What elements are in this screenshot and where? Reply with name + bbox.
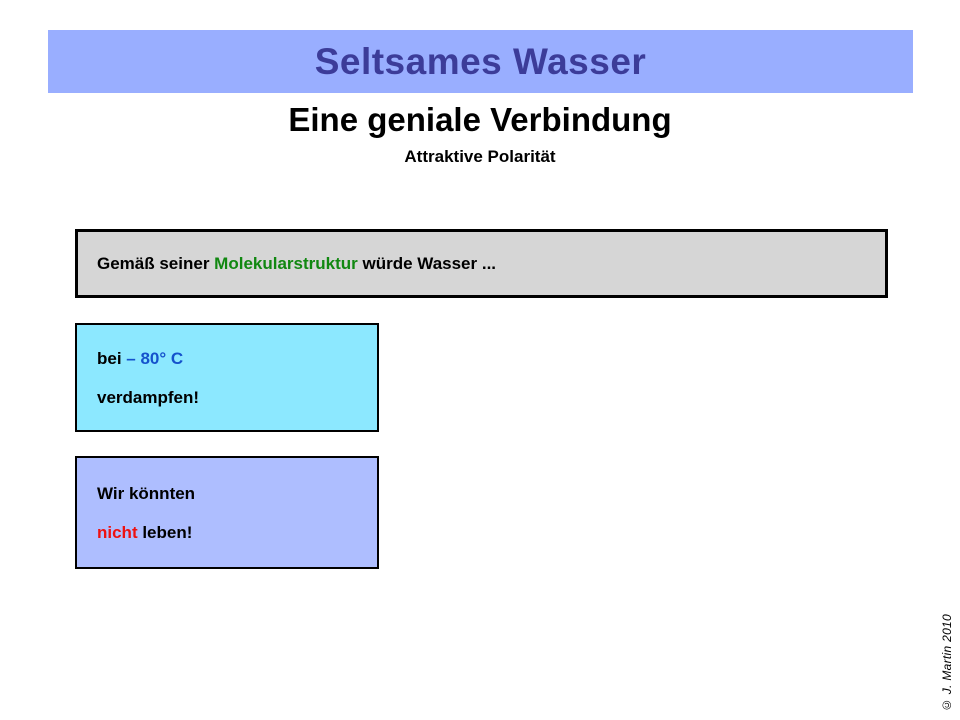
life-line2-after: leben! [138, 523, 193, 542]
statement-box: Gemäß seiner Molekularstruktur würde Was… [75, 229, 888, 298]
copyright-notice: © J. Martin 2010 [940, 614, 954, 712]
statement-text-before: Gemäß seiner [97, 254, 214, 273]
heading-main: Eine geniale Verbindung [0, 103, 960, 138]
evaporate-line-temperature: bei – 80° C [97, 350, 377, 367]
life-line-negation: nicht leben! [97, 524, 377, 541]
title-banner: Seltsames Wasser [48, 30, 913, 93]
consequence-box-evaporate: bei – 80° C verdampfen! [75, 323, 379, 432]
statement-text: Gemäß seiner Molekularstruktur würde Was… [78, 254, 496, 274]
evaporate-temperature-value: – 80° C [126, 349, 183, 368]
statement-highlight-molekularstruktur: Molekularstruktur [214, 254, 358, 273]
heading-sub: Attraktive Polarität [0, 148, 960, 166]
statement-text-after: würde Wasser ... [358, 254, 496, 273]
slide-title: Seltsames Wasser [315, 43, 647, 80]
slide-canvas: Seltsames Wasser Eine geniale Verbindung… [0, 0, 960, 720]
life-line-subject: Wir könnten [97, 485, 377, 502]
evaporate-line-verb: verdampfen! [97, 389, 377, 406]
consequence-box-life: Wir könnten nicht leben! [75, 456, 379, 569]
evaporate-line1-before: bei [97, 349, 126, 368]
life-negation-highlight: nicht [97, 523, 138, 542]
